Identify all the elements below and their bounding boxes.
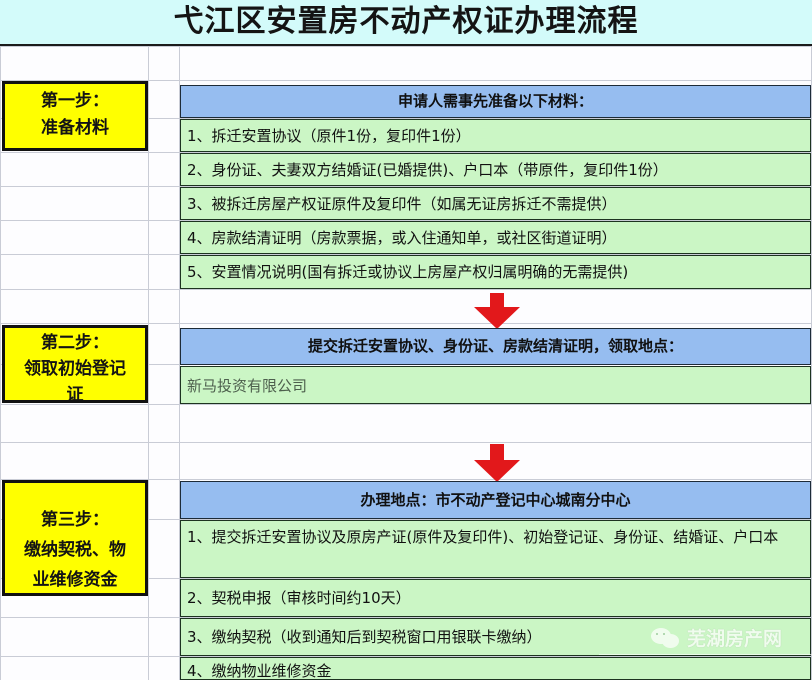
grid-line xyxy=(0,442,812,443)
step-1-label-line-2: 准备材料 xyxy=(5,115,145,142)
step-box-2: 第二步： 领取初始登记 证 xyxy=(2,325,148,403)
step-3-row-2: 2、契税申报（审核时间约10天） xyxy=(180,579,811,617)
step-3-header: 办理地点：市不动产登记中心城南分中心 xyxy=(180,481,811,519)
step-1-header: 申请人需事先准备以下材料： xyxy=(180,85,811,118)
step-3-row-4: 4、缴纳物业维修资金 xyxy=(180,657,811,680)
grid-line xyxy=(0,404,812,405)
grid-line xyxy=(0,46,812,47)
step-box-3: 第三步： 缴纳契税、物 业维修资金 xyxy=(2,480,148,596)
step-1-row-1: 1、拆迁安置协议（原件1份，复印件1份） xyxy=(180,119,811,152)
step-3-row-1: 1、提交拆迁安置协议及原房产证(原件及复印件)、初始登记证、身份证、结婚证、户口… xyxy=(180,520,811,578)
step-2-row-1: 新马投资有限公司 xyxy=(180,366,811,404)
flowchart-spreadsheet: 弋江区安置房不动产权证办理流程 第一步： 准备材料 申请人需事先准备以下材料： … xyxy=(0,0,812,680)
down-arrow-icon-1 xyxy=(474,293,520,327)
step-1-row-4: 4、房款结清证明（房款票据，或入住通知单，或社区街道证明） xyxy=(180,221,811,254)
grid-line xyxy=(148,46,149,680)
step-2-label-line-2: 领取初始登记 xyxy=(5,356,145,382)
step-1-label-line-1: 第一步： xyxy=(5,88,145,115)
step-1-row-2: 2、身份证、夫妻双方结婚证(已婚提供)、户口本（带原件，复印件1份） xyxy=(180,153,811,186)
grid-line xyxy=(0,289,812,290)
step-2-label-line-3: 证 xyxy=(5,382,145,403)
step-3-label-line-2: 缴纳契税、物 xyxy=(5,535,145,565)
step-3-label-line-3: 业维修资金 xyxy=(5,565,145,595)
grid-line xyxy=(0,323,812,324)
step-1-row-5: 5、安置情况说明(国有拆迁或协议上房屋产权归属明确的无需提供) xyxy=(180,255,811,289)
title-band: 弋江区安置房不动产权证办理流程 xyxy=(0,0,812,46)
step-3-row-3: 3、缴纳契税（收到通知后到契税窗口用银联卡缴纳） xyxy=(180,618,811,656)
down-arrow-icon-2 xyxy=(474,444,520,480)
grid-line xyxy=(0,46,1,680)
page-title: 弋江区安置房不动产权证办理流程 xyxy=(0,0,812,44)
step-1-row-3: 3、被拆迁房屋产权证原件及复印件（如属无证房拆迁不需提供） xyxy=(180,187,811,220)
step-3-label-line-1: 第三步： xyxy=(5,505,145,535)
step-2-label-line-1: 第二步： xyxy=(5,330,145,356)
step-box-1: 第一步： 准备材料 xyxy=(2,81,148,151)
step-2-header: 提交拆迁安置协议、身份证、房款结清证明，领取地点： xyxy=(180,328,811,365)
